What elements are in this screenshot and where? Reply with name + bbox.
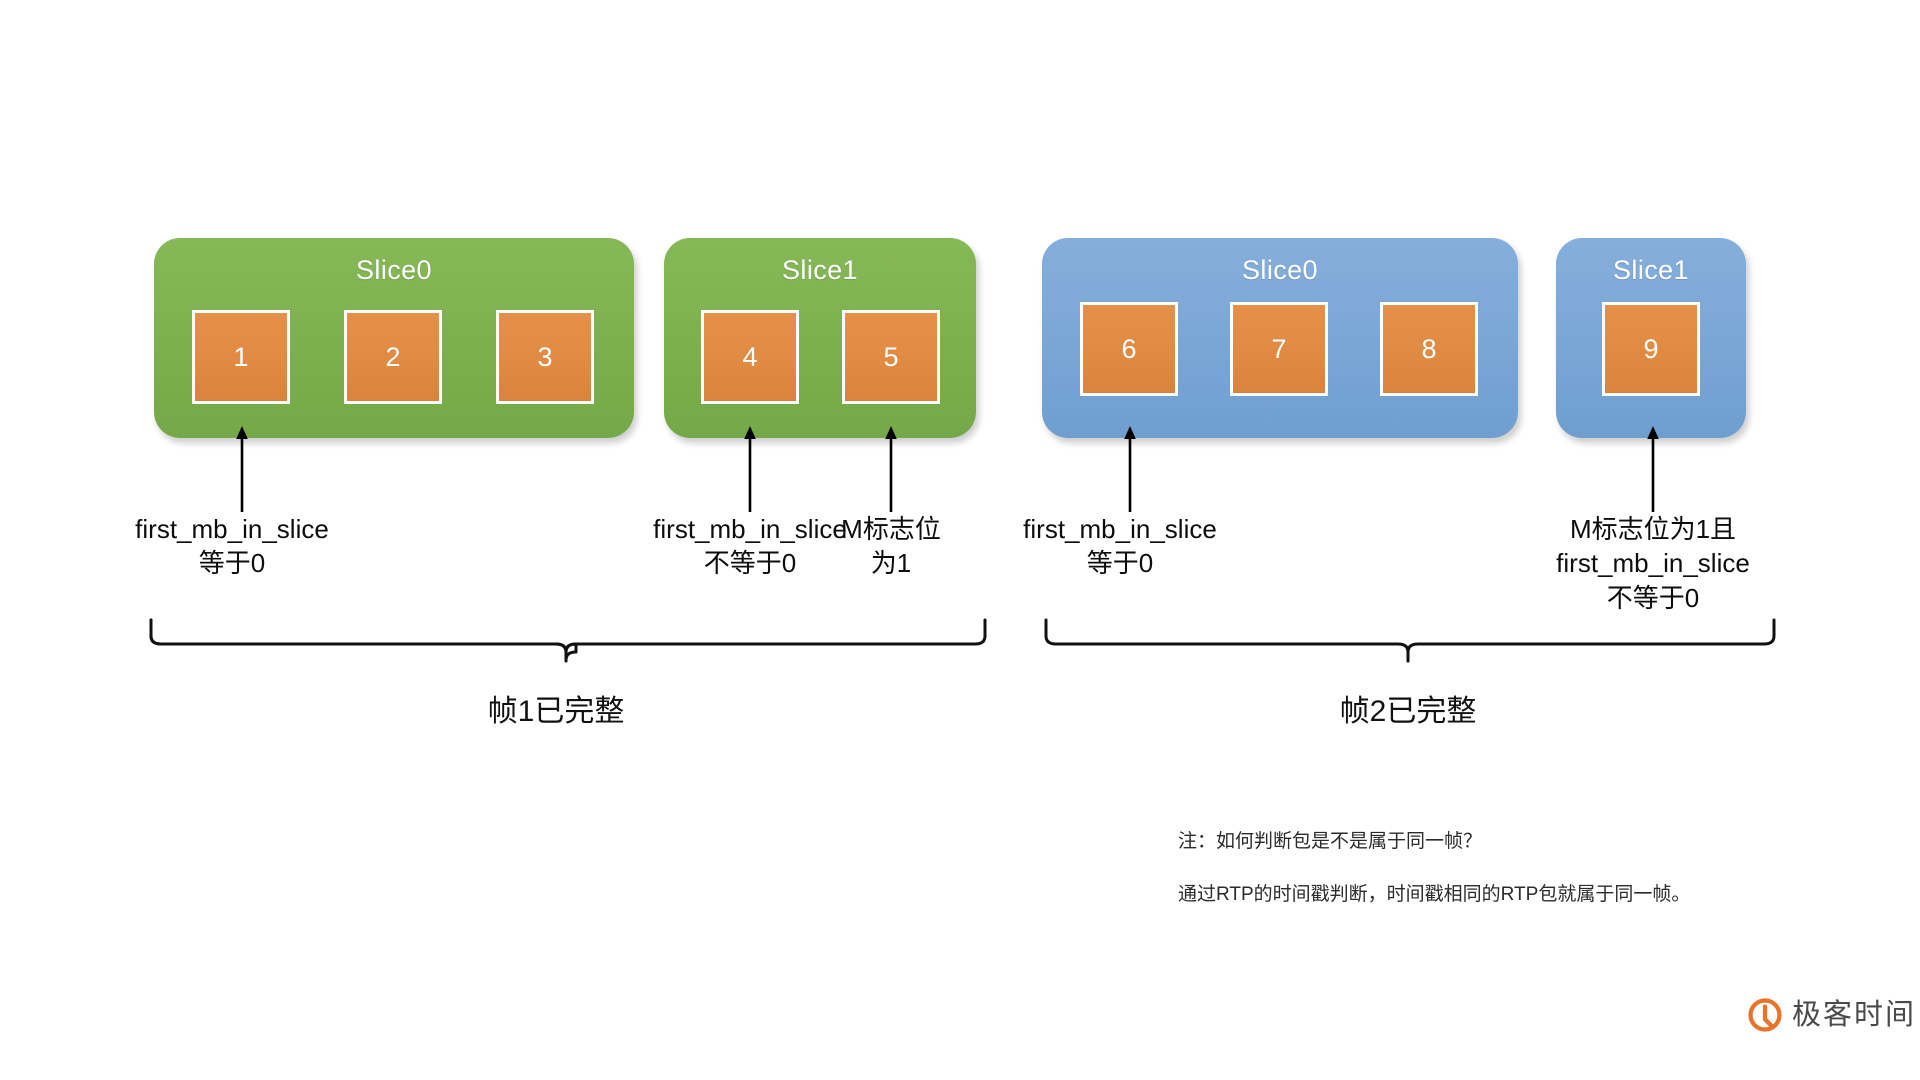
macroblock: 1 [192, 310, 290, 404]
brand-logo: 极客时间 [1748, 998, 1916, 1032]
annotation-mb-5: M标志位 为1 [826, 512, 956, 581]
frame1-caption: 帧1已完整 [386, 692, 726, 731]
footer-note: 注：如何判断包是不是属于同一帧？ 通过RTP的时间戳判断，时间戳相同的RTP包就… [1178, 828, 1818, 909]
macroblock: 3 [496, 310, 594, 404]
slice-box-frame1-slice0: Slice0 1 2 3 [154, 238, 634, 438]
frame2-caption: 帧2已完整 [1238, 692, 1578, 731]
annotation-mb-6: first_mb_in_slice 等于0 [980, 512, 1260, 581]
geekbang-mark-icon [1748, 998, 1782, 1032]
annotation-mb-9: M标志位为1且 first_mb_in_slice 不等于0 [1513, 512, 1793, 615]
slice-label: Slice0 [1042, 256, 1518, 286]
macroblock: 4 [701, 310, 799, 404]
slice-label: Slice1 [1556, 256, 1746, 286]
slice-label: Slice1 [664, 256, 976, 286]
macroblock: 5 [842, 310, 940, 404]
macroblock: 6 [1080, 302, 1178, 396]
slice-box-frame2-slice0: Slice0 6 7 8 [1042, 238, 1518, 438]
frame2-brace [1040, 618, 1780, 662]
note-answer: 通过RTP的时间戳判断，时间戳相同的RTP包就属于同一帧。 [1178, 881, 1818, 910]
slice-box-frame2-slice1: Slice1 9 [1556, 238, 1746, 438]
macroblock: 7 [1230, 302, 1328, 396]
slice-label: Slice0 [154, 256, 634, 286]
brand-name: 极客时间 [1792, 1001, 1916, 1030]
frame1-brace [145, 618, 991, 662]
macroblock: 9 [1602, 302, 1700, 396]
annotation-mb-1: first_mb_in_slice 等于0 [92, 512, 372, 581]
macroblock: 8 [1380, 302, 1478, 396]
slice-box-frame1-slice1: Slice1 4 5 [664, 238, 976, 438]
diagram-canvas: Slice0 1 2 3 Slice1 4 5 Slice0 6 7 8 Sli… [0, 0, 1920, 1080]
note-question: 注：如何判断包是不是属于同一帧？ [1178, 828, 1818, 857]
macroblock: 2 [344, 310, 442, 404]
